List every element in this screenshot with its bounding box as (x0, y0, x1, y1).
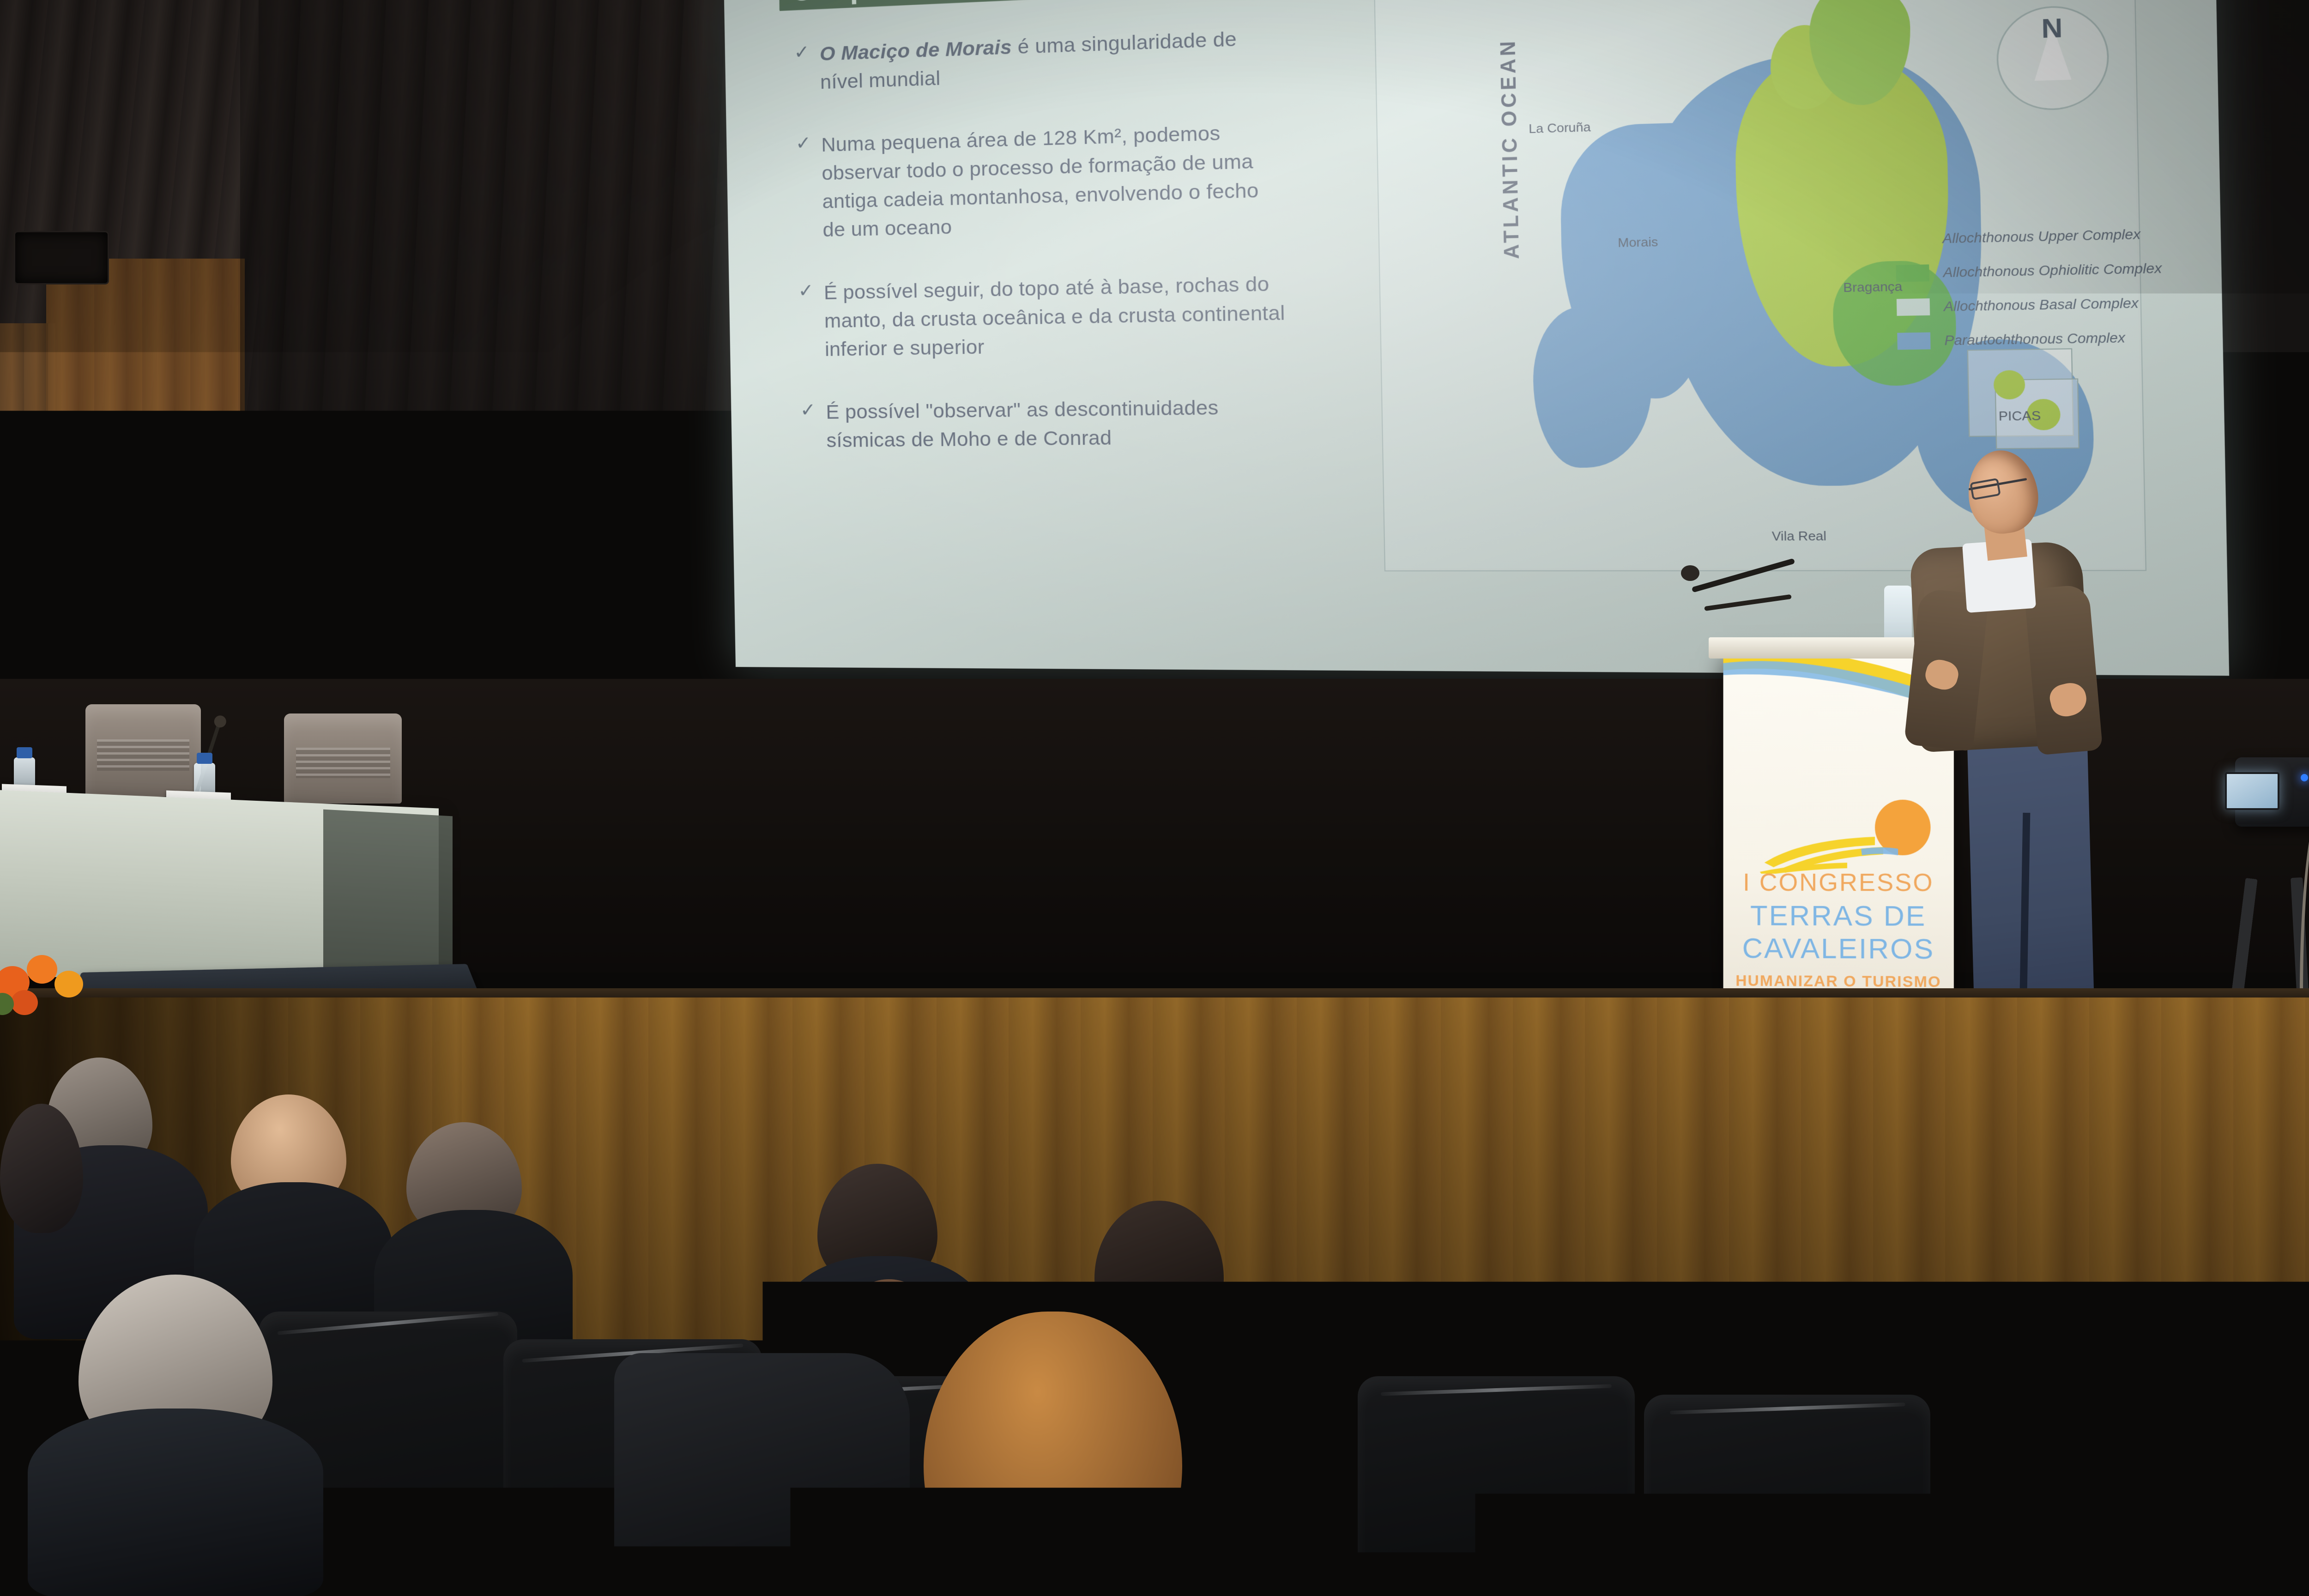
legend-swatch-parautochthonous (1897, 332, 1930, 350)
legend-item: Allochthonous Ophiolitic Complex (1896, 260, 2162, 282)
podium-microphone-head-icon (1681, 565, 1699, 581)
legend-label-ophiolitic: Allochthonous Ophiolitic Complex (1943, 260, 2162, 280)
map-place-label-4: Vila Real (1772, 528, 1827, 544)
map-legend: Allochthonous Upper Complex Allochthonou… (1895, 225, 2164, 367)
checkmark-icon: ✓ (795, 132, 813, 245)
chair-backrest-detail (97, 739, 189, 771)
checkmark-icon: ✓ (794, 41, 810, 98)
legend-swatch-upper (1895, 230, 1928, 248)
wall-loudspeaker (14, 231, 109, 284)
legend-label-upper: Allochthonous Upper Complex (1942, 227, 2140, 247)
legend-item: Parautochthonous Complex (1897, 329, 2163, 350)
legend-label-parautochthonous: Parautochthonous Complex (1944, 330, 2125, 349)
legend-item: Allochthonous Basal Complex (1897, 294, 2163, 316)
flower-arrangement (0, 942, 129, 1021)
panel-chair-left (85, 704, 201, 797)
flower-bloom (11, 990, 38, 1015)
compass-rose-icon: N (1996, 4, 2110, 111)
checkmark-icon: ✓ (800, 399, 816, 455)
auditorium-seat (1358, 1376, 1635, 1596)
wall-wood-panel (46, 259, 245, 711)
slide-bullet-2-text: Numa pequena área de 128 Km², podemos ob… (821, 117, 1284, 245)
geological-map: ATLANTIC OCEAN La Coruña Morais Bragança… (1334, 0, 2184, 605)
camera-lcd-screen (2225, 772, 2279, 810)
slide-bullet-4: ✓ É possível "observar" as descontinuida… (800, 393, 1288, 456)
legend-swatch-ophiolitic (1896, 265, 1929, 282)
chair-backrest-detail (296, 748, 390, 778)
slide-bullet-1-text: O Maciço de Morais é uma singularidade d… (820, 23, 1281, 97)
bottle-cap-icon (197, 753, 212, 764)
slide-title-bar: Um património … (779, 0, 1344, 11)
legend-label-basal: Allochthonous Basal Complex (1944, 296, 2139, 314)
sun-rays-icon (1760, 818, 1912, 874)
slide-bullet-4-text: É possível "observar" as descontinuidade… (826, 393, 1288, 455)
map-place-label-2: Bragança (1843, 279, 1903, 296)
wall-wood-panel-secondary (0, 323, 55, 711)
panel-chair-right (284, 713, 402, 804)
compass-north-label: N (2041, 12, 2063, 44)
map-place-label-0: La Coruña (1529, 120, 1591, 137)
podium-line-congresso: I CONGRESSO (1723, 868, 1954, 897)
podium-line-terras: TERRAS DE (1723, 899, 1954, 932)
slide-title: Um património … (791, 0, 1053, 8)
audience-torso (28, 1409, 323, 1596)
flower-bloom (27, 955, 57, 984)
table-cloth-runner (323, 810, 453, 987)
slide-bullet-2: ✓ Numa pequena área de 128 Km², podemos … (795, 117, 1284, 245)
podium-line-cavaleiros: CAVALEIROS (1723, 932, 1954, 966)
slide-bullet-3-text: É possível seguir, do topo até à base, r… (824, 270, 1287, 364)
legend-swatch-basal (1897, 298, 1930, 316)
flower-bloom (54, 971, 83, 997)
slide-bullet-3: ✓ É possível seguir, do topo até à base,… (798, 270, 1286, 364)
coat-draped-over-seat (614, 1353, 910, 1596)
camera-status-light-blue (2301, 774, 2308, 781)
checkmark-icon: ✓ (798, 279, 815, 365)
slide-bullet-list: ✓ O Maciço de Morais é uma singularidade… (794, 23, 1289, 490)
bottle-cap-icon (17, 747, 32, 758)
map-landmass-southwest (1532, 305, 1653, 468)
map-ocean-label: ATLANTIC OCEAN (1495, 38, 1523, 260)
photo-canvas: Um património … ✓ O Maciço de Morais é u… (0, 0, 2309, 1596)
map-place-label-3: PICAS (1998, 408, 2041, 424)
map-place-label-1: Morais (1618, 235, 1658, 251)
auditorium-seat (1644, 1395, 1930, 1596)
slide-bullet-1: ✓ O Maciço de Morais é uma singularidade… (794, 23, 1281, 97)
audience-head-curly-hair (924, 1312, 1182, 1596)
podium-logo-rays (1760, 818, 1912, 874)
